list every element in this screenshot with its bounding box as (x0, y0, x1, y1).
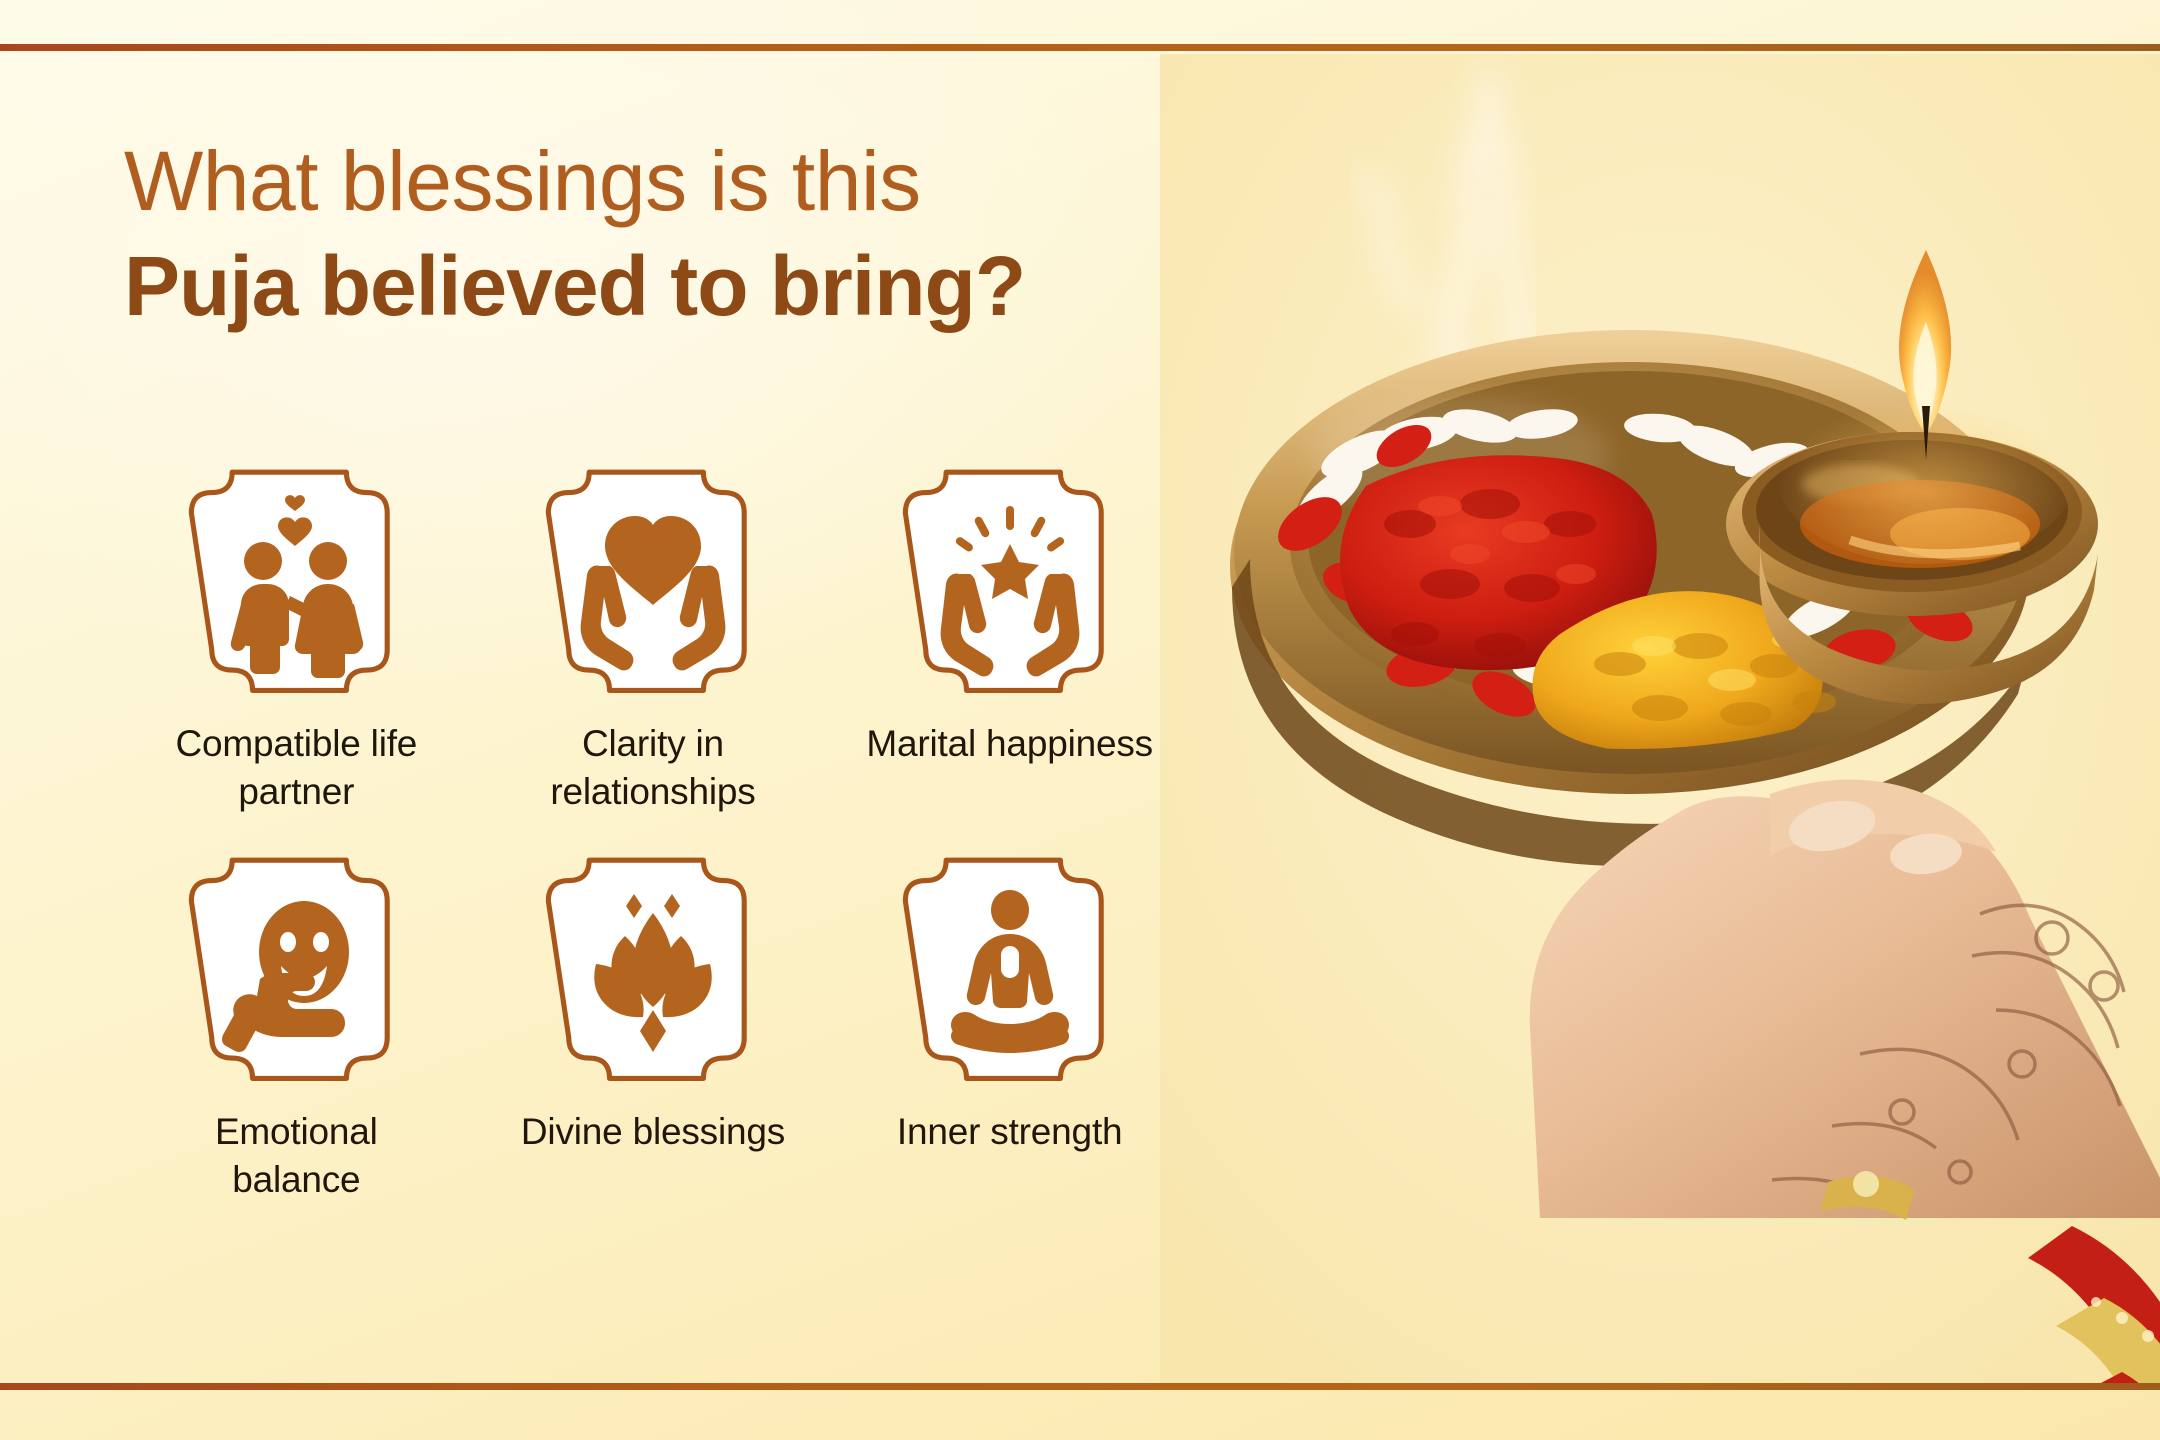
bottom-divider-rule (0, 1383, 2160, 1390)
couple-holding-hands-icon (171, 462, 421, 698)
blessing-item: Clarity in relationships (475, 462, 832, 816)
tile-wrapper (167, 462, 425, 698)
blessing-tile[interactable] (528, 850, 778, 1086)
blessing-tile[interactable] (885, 850, 1135, 1086)
puja-thali-photo (1140, 44, 2160, 1383)
puja-thali-illustration (1160, 54, 2160, 1383)
blessing-label: Inner strength (897, 1108, 1123, 1156)
blessing-label: Marital happiness (866, 720, 1153, 768)
tile-wrapper (881, 850, 1139, 1086)
hands-holding-heart-icon (528, 462, 778, 698)
blessing-tile[interactable] (885, 462, 1135, 698)
blessing-item: Inner strength (831, 850, 1188, 1204)
meditating-figure-icon (885, 850, 1135, 1086)
page-title: What blessings is this Puja believed to … (124, 139, 1204, 333)
content-column: What blessings is this Puja believed to … (0, 44, 1250, 1383)
heading-line-2: Puja believed to bring? (124, 239, 1204, 333)
heading-line-1: What blessings is this (124, 139, 1204, 223)
tile-wrapper (167, 850, 425, 1086)
tile-wrapper (524, 462, 782, 698)
blessing-label: Clarity in relationships (503, 720, 803, 816)
blessing-item: Compatible life partner (118, 462, 475, 816)
blessing-item: Divine blessings (475, 850, 832, 1204)
blessing-label: Emotional balance (171, 1108, 421, 1204)
hands-holding-star-icon (885, 462, 1135, 698)
lotus-flower-icon (528, 850, 778, 1086)
blessing-item: Emotional balance (118, 850, 475, 1204)
blessing-item: Marital happiness (831, 462, 1188, 816)
tile-wrapper (881, 462, 1139, 698)
poster-canvas: What blessings is this Puja believed to … (0, 0, 2160, 1440)
blessings-grid: Compatible life partner (118, 462, 1188, 1204)
blessing-tile[interactable] (528, 462, 778, 698)
blessing-label: Compatible life partner (171, 720, 421, 816)
blessing-tile[interactable] (171, 850, 421, 1086)
blessing-tile[interactable] (171, 462, 421, 698)
hand-holding-smiley-icon (171, 850, 421, 1086)
tile-wrapper (524, 850, 782, 1086)
blessing-label: Divine blessings (521, 1108, 785, 1156)
